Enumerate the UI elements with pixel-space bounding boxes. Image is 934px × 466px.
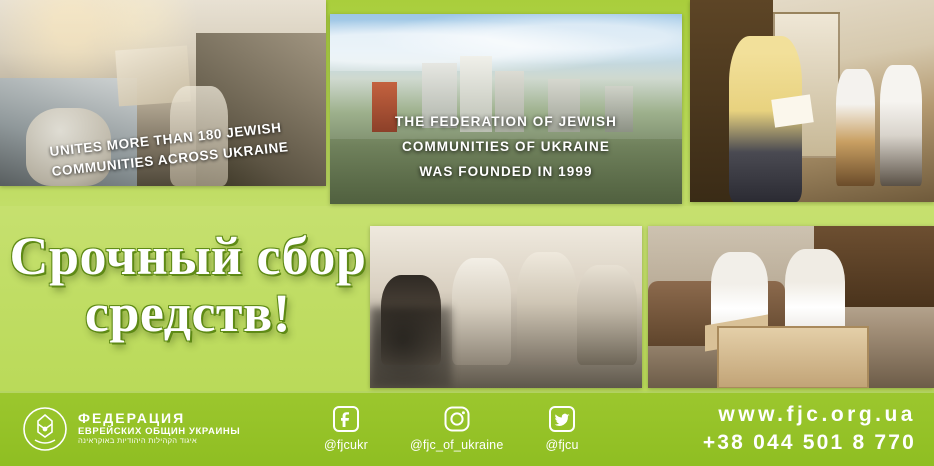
photo-city-caption-line3: WAS FOUNDED IN 1999: [330, 160, 682, 185]
organization-logo: ФЕДЕРАЦИЯ ЕВРЕЙСКИХ ОБЩИН УКРАИНЫ איגוד …: [22, 406, 282, 452]
footer-bar: ФЕДЕРАЦИЯ ЕВРЕЙСКИХ ОБЩИН УКРАИНЫ איגוד …: [0, 391, 934, 466]
headline-line2: средств!: [8, 285, 368, 342]
website-url[interactable]: www.fjc.org.ua: [703, 403, 916, 427]
photo-city-caption-line1: THE FEDERATION OF JEWISH: [330, 110, 682, 135]
headline: Срочный сбор средств!: [8, 228, 368, 341]
facebook-handle: @fjcukr: [324, 438, 368, 452]
organization-hebrew: איגוד הקהילות היהודיות באוקראינה: [78, 437, 240, 445]
social-link-instagram[interactable]: @fjc_of_ukraine: [410, 406, 504, 452]
facebook-icon: [333, 406, 359, 432]
phone-number[interactable]: +38 044 501 8 770: [703, 431, 916, 455]
instagram-icon: [444, 406, 470, 432]
fjc-emblem-icon: [22, 406, 68, 452]
social-link-twitter[interactable]: @fjcu: [545, 406, 578, 452]
headline-line1: Срочный сбор: [8, 228, 368, 285]
organization-name: ФЕДЕРАЦИЯ ЕВРЕЙСКИХ ОБЩИН УКРАИНЫ איגוד …: [78, 411, 240, 446]
photo-city-caption: THE FEDERATION OF JEWISH COMMUNITIES OF …: [330, 110, 682, 185]
photo-city-caption-line2: COMMUNITIES OF UKRAINE: [330, 135, 682, 160]
twitter-handle: @fjcu: [545, 438, 578, 452]
fjc-donation-banner: UNITES MORE THAN 180 JEWISH COMMUNITIES …: [0, 0, 934, 466]
contact-info: www.fjc.org.ua +38 044 501 8 770: [703, 403, 916, 455]
organization-title: ФЕДЕРАЦИЯ: [78, 411, 240, 427]
social-links: @fjcukr @fjc_of_ukraine: [324, 406, 579, 452]
photo-tefillin-prayer: [370, 226, 642, 388]
twitter-icon: [549, 406, 575, 432]
social-link-facebook[interactable]: @fjcukr: [324, 406, 368, 452]
photo-boys-packing-box: [648, 226, 934, 388]
photo-community-hall: [690, 0, 934, 202]
photo-city-skyline: THE FEDERATION OF JEWISH COMMUNITIES OF …: [330, 14, 682, 204]
instagram-handle: @fjc_of_ukraine: [410, 438, 504, 452]
